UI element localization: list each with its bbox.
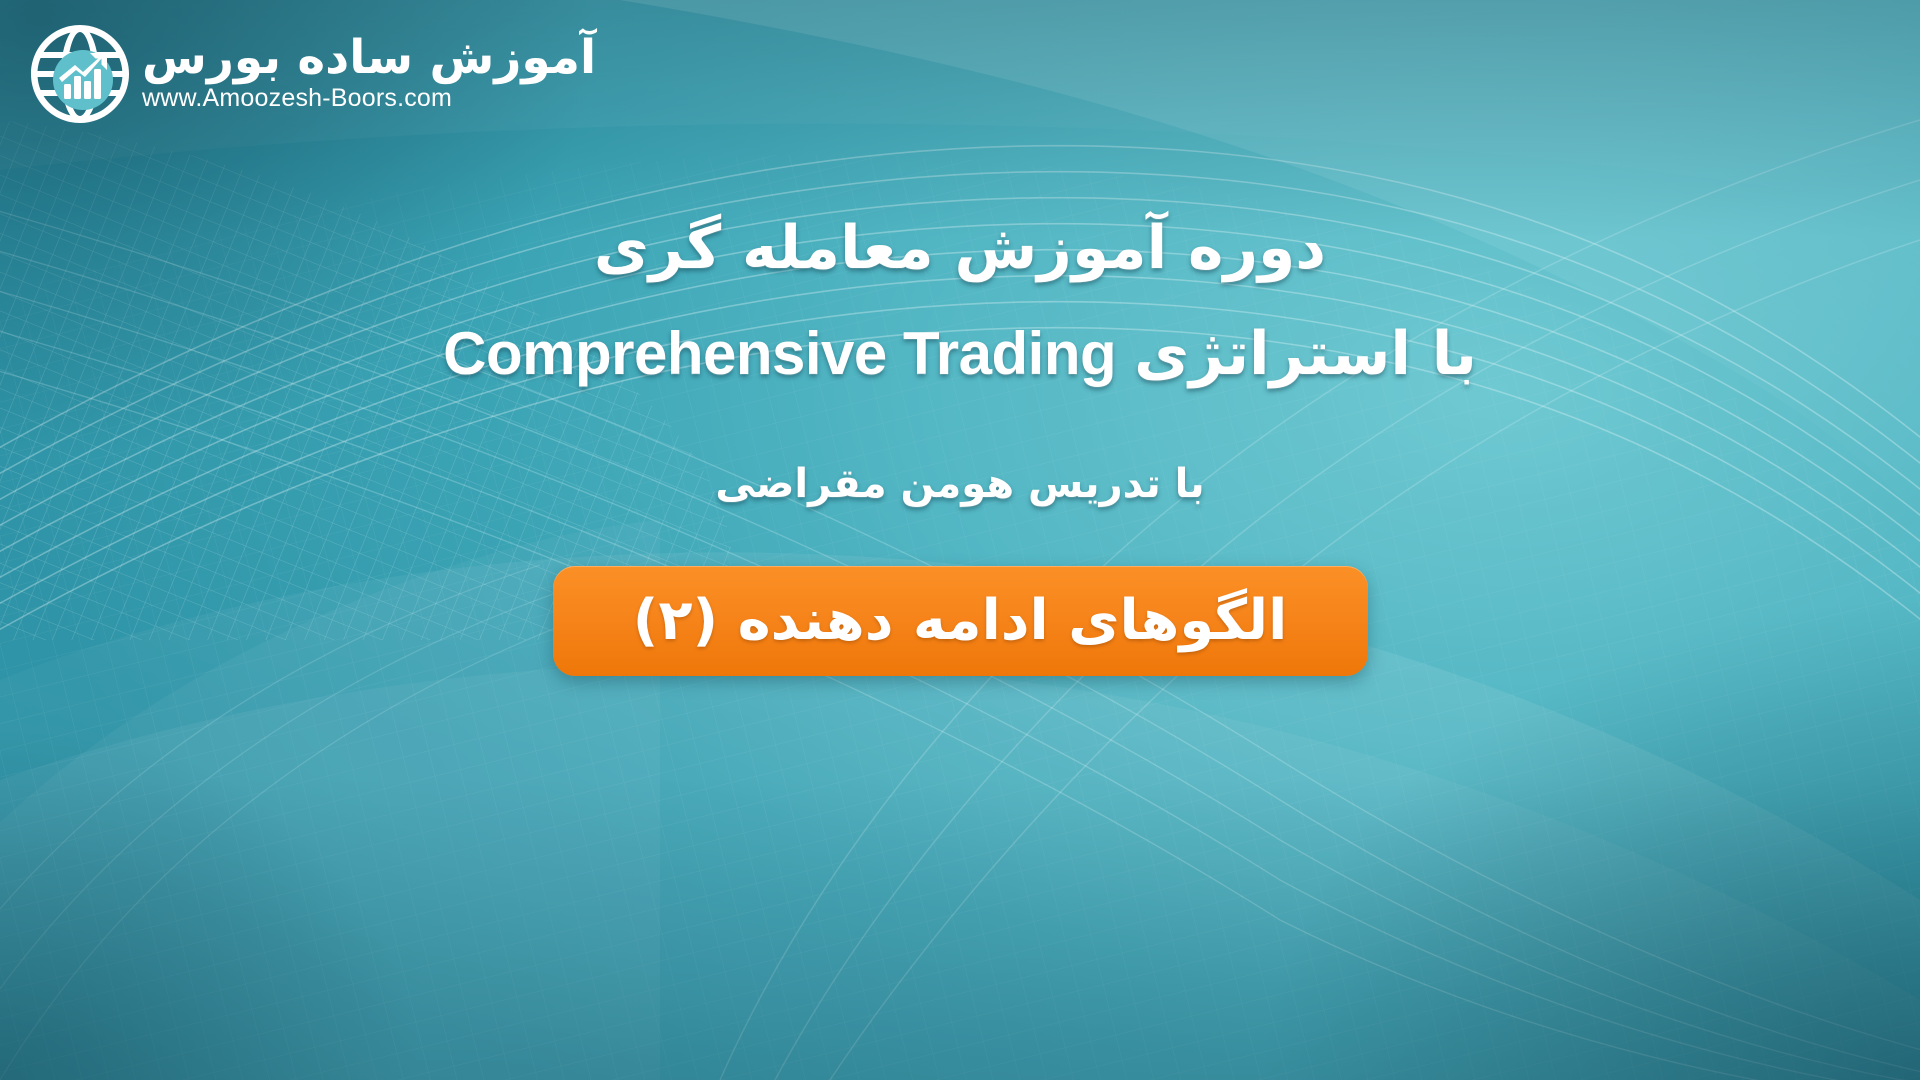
slide-copy: دوره آموزش معامله گری با استراتژی Compre… xyxy=(0,212,1920,676)
slide-title-secondary: با استراتژی Comprehensive Trading xyxy=(443,318,1477,390)
strategy-prefix-label: با استراتژی xyxy=(1134,318,1477,390)
brand-name: آموزش ساده بورس xyxy=(142,34,596,81)
slide-canvas: آموزش ساده بورس www.Amoozesh-Boors.com xyxy=(0,0,1920,1080)
globe-bar-chart-icon xyxy=(28,22,132,126)
slide-title-primary: دوره آموزش معامله گری xyxy=(594,212,1326,284)
lesson-topic-label: الگوهای ادامه دهنده (۲) xyxy=(633,593,1288,649)
lesson-topic-button[interactable]: الگوهای ادامه دهنده (۲) xyxy=(553,566,1368,676)
brand-logo[interactable]: آموزش ساده بورس www.Amoozesh-Boors.com xyxy=(28,22,596,126)
brand-website: www.Amoozesh-Boors.com xyxy=(142,83,452,114)
brand-text: آموزش ساده بورس www.Amoozesh-Boors.com xyxy=(142,34,596,114)
instructor-label: با تدریس هومن مقراضی xyxy=(715,460,1204,508)
strategy-name-label: Comprehensive Trading xyxy=(443,318,1116,390)
